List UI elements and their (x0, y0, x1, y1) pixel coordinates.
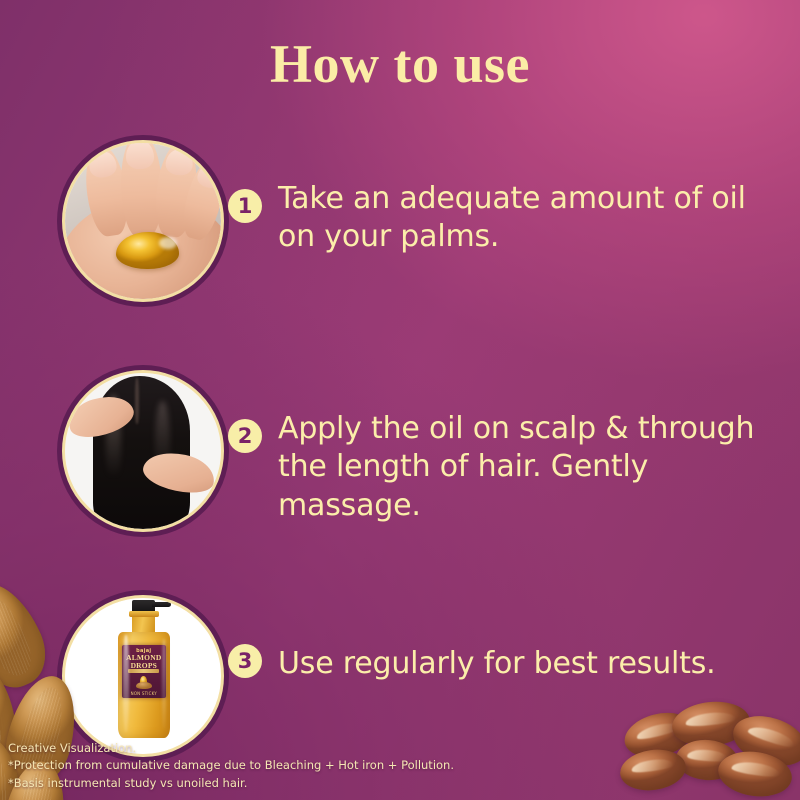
step-text-2: Apply the oil on scalp & through the len… (278, 410, 778, 525)
argan-nuts-decoration-right (614, 700, 800, 800)
bottle-collar (129, 611, 159, 616)
bottle-highlight (123, 635, 129, 732)
footnote-line-2: *Protection from cumulative damage due t… (8, 757, 454, 774)
fingernail-icon (165, 147, 195, 176)
pump-spout-icon (152, 602, 171, 607)
step-text-1: Take an adequate amount of oil on your p… (278, 180, 778, 257)
nut-seam (631, 758, 674, 774)
almond-icon (136, 682, 152, 689)
hair-parting (135, 378, 139, 425)
hair-massage-photo (65, 373, 221, 529)
nut-seam (731, 760, 779, 778)
footnote-line-1: Creative Visualization. (8, 740, 454, 757)
step-number-badge-2: 2 (228, 419, 262, 453)
step-1-image (62, 140, 224, 302)
step-2-image (62, 370, 224, 532)
fingernail-icon (126, 143, 155, 169)
footnote-line-3: *Basis instrumental study vs unoiled hai… (8, 775, 454, 792)
step-number-badge-1: 1 (228, 189, 262, 223)
footnotes: Creative Visualization. *Protection from… (8, 740, 454, 792)
step-text-3: Use regularly for best results. (278, 645, 778, 683)
step-number-badge-3: 3 (228, 644, 262, 678)
nut-seam (685, 711, 736, 728)
hand-oil-photo (65, 143, 221, 299)
label-variant-bar (128, 669, 159, 673)
step-item-1: 1 Take an adequate amount of oil on your… (0, 140, 800, 300)
page-title: How to use (0, 36, 800, 93)
step-item-2: 2 Apply the oil on scalp & through the l… (0, 370, 800, 530)
how-to-use-poster: How to use 1 Take an adequate amount of … (0, 0, 800, 800)
nut-seam (747, 723, 797, 749)
fingernail-icon (87, 150, 118, 179)
